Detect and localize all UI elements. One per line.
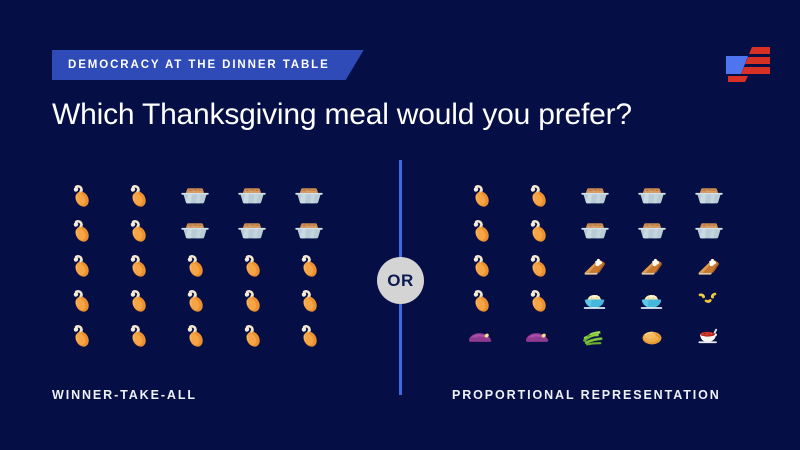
turkey-leg-icon: [109, 213, 166, 248]
eyebrow-tag-label: DEMOCRACY AT THE DINNER TABLE: [68, 59, 330, 71]
panel-winner-take-all: [52, 178, 337, 353]
casserole-icon: [166, 178, 223, 213]
pie-slice-icon: [566, 248, 623, 283]
flag-logo: [722, 44, 774, 84]
green-beans-icon: [566, 318, 623, 353]
sweet-potato-icon: [509, 318, 566, 353]
turkey-leg-icon: [452, 283, 509, 318]
turkey-leg-icon: [280, 283, 337, 318]
pie-slice-icon: [680, 248, 737, 283]
cranberry-sauce-icon: [680, 318, 737, 353]
casserole-icon: [223, 178, 280, 213]
casserole-icon: [223, 213, 280, 248]
eyebrow-tag: DEMOCRACY AT THE DINNER TABLE: [52, 50, 364, 80]
turkey-leg-icon: [452, 213, 509, 248]
casserole-icon: [566, 178, 623, 213]
casserole-icon: [680, 213, 737, 248]
caption-proportional-representation: PROPORTIONAL REPRESENTATION: [452, 388, 721, 402]
casserole-icon: [566, 213, 623, 248]
casserole-icon: [623, 213, 680, 248]
or-label: OR: [387, 271, 414, 291]
turkey-leg-icon: [52, 283, 109, 318]
casserole-icon: [680, 178, 737, 213]
turkey-leg-icon: [509, 213, 566, 248]
turkey-leg-icon: [223, 283, 280, 318]
turkey-leg-icon: [280, 318, 337, 353]
turkey-leg-icon: [509, 178, 566, 213]
pie-slice-icon: [623, 248, 680, 283]
turkey-leg-icon: [509, 283, 566, 318]
or-badge: OR: [377, 257, 424, 304]
turkey-leg-icon: [452, 248, 509, 283]
turkey-leg-icon: [509, 248, 566, 283]
turkey-leg-icon: [52, 213, 109, 248]
casserole-icon: [280, 213, 337, 248]
casserole-icon: [623, 178, 680, 213]
casserole-icon: [280, 178, 337, 213]
turkey-leg-icon: [52, 178, 109, 213]
poster-canvas: DEMOCRACY AT THE DINNER TABLE Which Than…: [0, 0, 800, 450]
page-title: Which Thanksgiving meal would you prefer…: [52, 98, 632, 132]
turkey-leg-icon: [280, 248, 337, 283]
sweet-potato-icon: [452, 318, 509, 353]
turkey-leg-icon: [109, 248, 166, 283]
mashed-potatoes-icon: [566, 283, 623, 318]
turkey-leg-icon: [223, 318, 280, 353]
mashed-potatoes-icon: [623, 283, 680, 318]
turkey-leg-icon: [166, 318, 223, 353]
turkey-leg-icon: [52, 248, 109, 283]
turkey-leg-icon: [52, 318, 109, 353]
casserole-icon: [166, 213, 223, 248]
eyebrow-tag-shape: DEMOCRACY AT THE DINNER TABLE: [52, 50, 364, 80]
caption-winner-take-all: WINNER-TAKE-ALL: [52, 388, 197, 402]
icon-grid-right: [452, 178, 737, 353]
panel-proportional-representation: [452, 178, 737, 353]
turkey-leg-icon: [166, 283, 223, 318]
turkey-leg-icon: [109, 283, 166, 318]
macaroni-icon: [680, 283, 737, 318]
icon-grid-left: [52, 178, 337, 353]
turkey-leg-icon: [223, 248, 280, 283]
bread-roll-icon: [623, 318, 680, 353]
turkey-leg-icon: [166, 248, 223, 283]
turkey-leg-icon: [109, 318, 166, 353]
turkey-leg-icon: [452, 178, 509, 213]
turkey-leg-icon: [109, 178, 166, 213]
